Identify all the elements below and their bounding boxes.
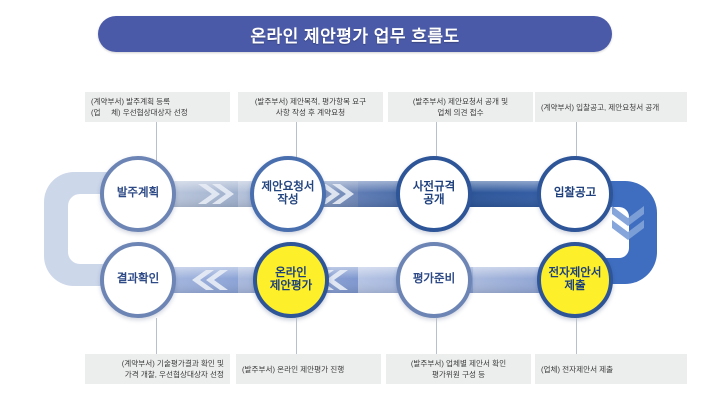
note-line: (계약부서) 입찰공고, 제안요청서 공개 xyxy=(541,102,681,113)
note-top-3: (발주부서) 제안요청서 공개 및 업체 의견 접수 xyxy=(388,92,533,122)
node-label: 결과확인 xyxy=(117,273,159,286)
note-bot-4: (업체) 전자제안서 제출 xyxy=(535,354,687,384)
note-stem-bot-1 xyxy=(156,318,157,354)
node-balju-gyehoek[interactable]: 발주계획 xyxy=(100,156,176,232)
node-jeonja-jeanseo-jechul[interactable]: 전자제안서 제출 xyxy=(537,242,613,318)
note-line: 평가위원 구성 등 xyxy=(392,369,525,380)
note-top-2: (발주부서) 제안목적, 평가항목 요구 사항 작성 후 계약요청 xyxy=(238,92,383,122)
note-stem-bot-3 xyxy=(436,318,437,354)
note-stem-bot-2 xyxy=(296,318,297,354)
note-line: 가격 개찰, 우선협상대상자 선정 xyxy=(91,369,224,380)
node-sajeon-gyugyeok-gonggae[interactable]: 사전규격 공개 xyxy=(396,156,472,232)
note-bot-2: (발주부서) 온라인 제안평가 진행 xyxy=(236,354,381,384)
node-label: 평가준비 xyxy=(413,273,455,286)
band-bottom-row xyxy=(118,267,593,293)
note-line: (업체) 전자제안서 제출 xyxy=(541,364,681,375)
flow-diagram-canvas: 온라인 제안평가 업무 흐름도 xyxy=(0,0,710,408)
node-jean-yocheongseo-jakseong[interactable]: 제안요청서 작성 xyxy=(250,156,326,232)
node-label: 사전규격 공개 xyxy=(413,181,455,207)
note-top-4: (계약부서) 입찰공고, 제안요청서 공개 xyxy=(535,92,687,122)
note-line: 업체 의견 접수 xyxy=(394,107,527,118)
note-line: (발주부서) 온라인 제안평가 진행 xyxy=(242,364,375,375)
node-label: 입찰공고 xyxy=(554,187,596,200)
note-line: (발주부서) 제안목적, 평가항목 요구 xyxy=(244,96,377,107)
note-line: 사항 작성 후 계약요청 xyxy=(244,107,377,118)
note-line: (계약부서) 기술평가결과 확인 및 xyxy=(91,358,224,369)
note-top-1: (계약부서) 발주계획 등록 (업 체) 우선협상대상자 선정 xyxy=(85,92,230,122)
note-line: (계약부서) 발주계획 등록 xyxy=(91,96,224,107)
node-pyeongga-junbi[interactable]: 평가준비 xyxy=(396,242,472,318)
note-line: (업 체) 우선협상대상자 선정 xyxy=(91,107,224,118)
note-bot-1: (계약부서) 기술평가결과 확인 및 가격 개찰, 우선협상대상자 선정 xyxy=(85,354,230,384)
note-line: (발주부서) 업체별 제안서 확인 xyxy=(392,358,525,369)
node-label: 온라인 제안평가 xyxy=(270,267,312,293)
note-bot-3: (발주부서) 업체별 제안서 확인 평가위원 구성 등 xyxy=(386,354,531,384)
band-top-row xyxy=(118,181,593,207)
node-gyeolgwa-hwagin[interactable]: 결과확인 xyxy=(100,242,176,318)
node-ipchal-gonggo[interactable]: 입찰공고 xyxy=(537,156,613,232)
note-stem-bot-4 xyxy=(576,318,577,354)
node-label: 전자제안서 제출 xyxy=(549,267,602,293)
node-label: 발주계획 xyxy=(117,187,159,200)
node-label: 제안요청서 작성 xyxy=(262,181,315,207)
note-line: (발주부서) 제안요청서 공개 및 xyxy=(394,96,527,107)
node-online-jean-pyeongga[interactable]: 온라인 제안평가 xyxy=(253,242,329,318)
note-stem-top-1 xyxy=(156,122,157,162)
